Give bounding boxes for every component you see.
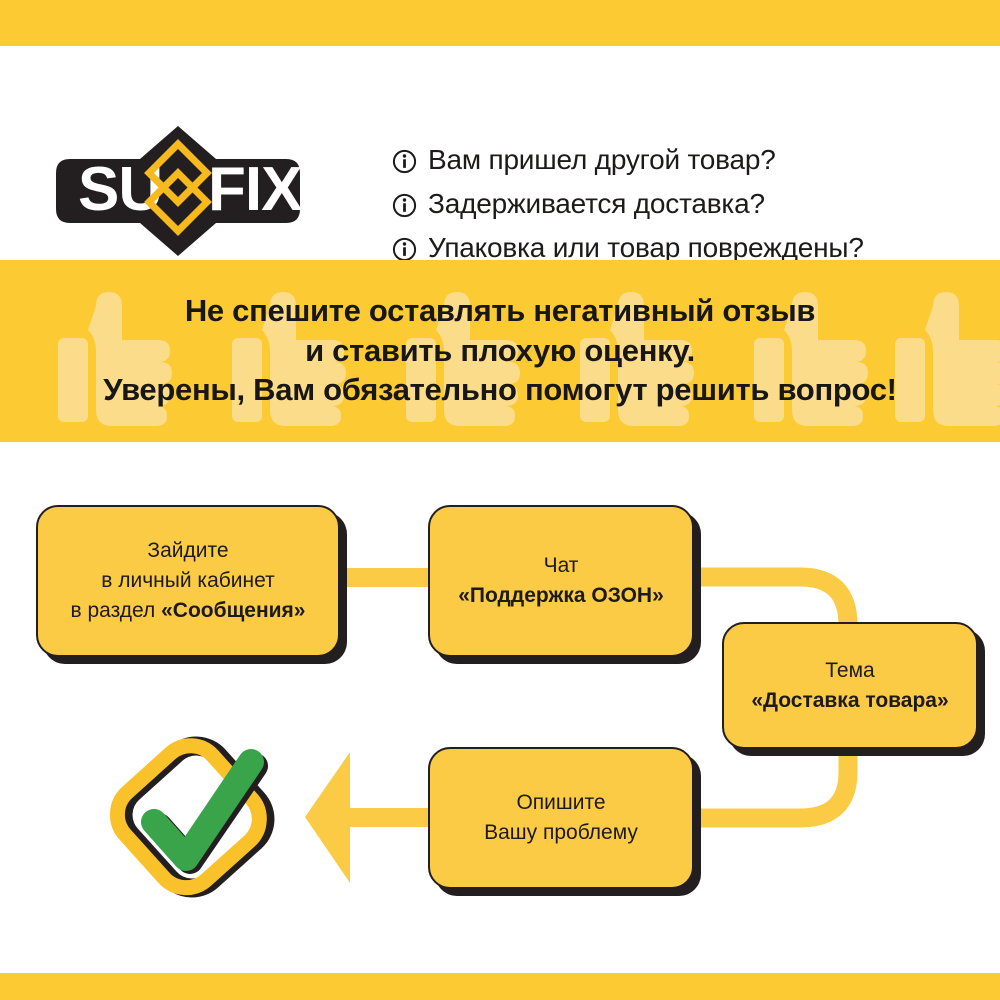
flow-step-line: Зайдите [147,536,228,566]
banner-line: Уверены, Вам обязательно помогут решить … [103,372,896,409]
info-icon [392,149,417,174]
top-accent-bar [0,0,1000,46]
flow-step-chat[interactable]: Чат «Поддержка ОЗОН» [428,505,694,657]
flow-diagram: Зайдите в личный кабинет в раздел «Сообщ… [0,442,1000,973]
flow-step-line: Вашу проблему [484,818,638,848]
check-mark-icon [104,722,284,907]
question-row: Задерживается доставка? [392,182,992,226]
flow-step-line-bold: «Сообщения» [161,599,305,622]
info-icon [392,237,417,262]
banner-line: Не спешите оставлять негативный отзыв [185,293,815,330]
bottom-accent-bar [0,973,1000,1000]
header-section: SU FIX Вам пришел друг [0,46,1000,260]
flow-step-line: Чат [544,551,579,581]
flow-step-account[interactable]: Зайдите в личный кабинет в раздел «Сообщ… [36,505,340,657]
flow-step-line-plain: в раздел [70,599,161,622]
flow-step-line: в личный кабинет [101,566,274,596]
flow-step-line-mixed: в раздел «Сообщения» [70,596,305,626]
info-icon [392,193,417,218]
poster-root: SU FIX Вам пришел друг [0,0,1000,1000]
logo-text-left: SU [78,155,162,224]
question-row: Вам пришел другой товар? [392,138,992,182]
question-text: Задерживается доставка? [428,190,765,218]
connector-topic-to-problem [700,742,848,818]
question-list: Вам пришел другой товар? Задерживается д… [392,138,992,270]
connector-account-to-chat [332,568,436,587]
flow-step-line: Тема [825,656,874,686]
banner-text-block: Не спешите оставлять негативный отзыв и … [0,260,1000,442]
logo-text-right: FIX [208,155,302,224]
flow-step-line: «Доставка товара» [751,686,948,716]
question-text: Упаковка или товар повреждены? [428,234,864,262]
warning-banner: Не спешите оставлять негативный отзыв и … [0,260,1000,442]
flow-step-line: Опишите [516,788,605,818]
question-text: Вам пришел другой товар? [428,146,776,174]
banner-line: и ставить плохую оценку. [305,333,695,370]
brand-logo: SU FIX [42,126,314,256]
flow-step-line: «Поддержка ОЗОН» [458,581,664,611]
flow-step-topic[interactable]: Тема «Доставка товара» [722,622,978,749]
flow-step-problem[interactable]: Опишите Вашу проблему [428,747,694,889]
arrow-left-icon [305,752,438,883]
